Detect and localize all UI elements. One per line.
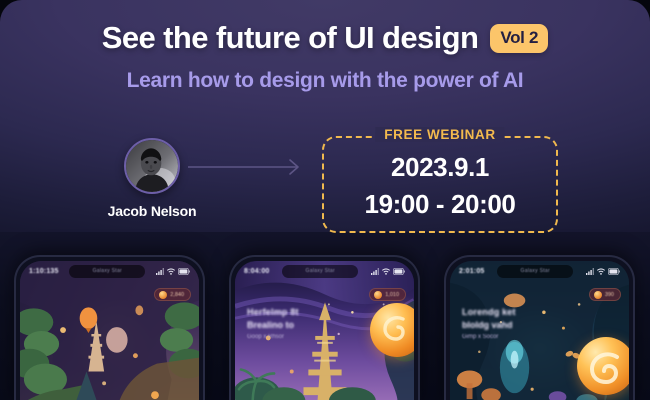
phone-screen-2: 8:04:00 Galaxy Star	[235, 261, 414, 400]
phone-mockup-3: 2:01:05 Galaxy Star	[444, 255, 635, 400]
island-label: Galaxy Star	[93, 268, 122, 274]
speaker-name: Jacob Nelson	[97, 203, 207, 219]
phone-mockup-1: 1:10:135 Galaxy Star	[14, 255, 205, 400]
gold-orb-button-3[interactable]	[577, 337, 629, 395]
coin-badge-3[interactable]: 390	[589, 288, 621, 301]
coin-amount: 2,840	[170, 292, 184, 298]
status-time: 8:04:00	[244, 268, 270, 275]
battery-icon	[178, 268, 190, 275]
title-row: See the future of UI design Vol 2	[0, 20, 650, 56]
signal-icon	[586, 268, 594, 275]
card-text-3: Lorendg ket bloldg vahd Gimp x Socor	[462, 307, 516, 340]
banner-header: See the future of UI design Vol 2 Learn …	[0, 0, 650, 93]
swirl-icon	[370, 303, 414, 357]
coin-badge-1[interactable]: 2,840	[154, 288, 191, 301]
card-headline-line2: Brealino to	[247, 320, 299, 330]
card-headline-line1: Herfelmp 8t	[247, 307, 299, 317]
coin-icon	[374, 291, 382, 299]
avatar	[124, 138, 180, 194]
status-icons	[371, 268, 405, 275]
game-scene-forest	[20, 261, 199, 400]
page-title: See the future of UI design	[102, 20, 479, 56]
webinar-box: FREE WEBINAR 2023.9.1 19:00 - 20:00	[322, 136, 558, 233]
banner-subtitle: Learn how to design with the power of AI	[0, 69, 650, 93]
webinar-label: FREE WEBINAR	[375, 127, 504, 142]
card-text-2: Herfelmp 8t Brealino to Goop x Rhsor	[247, 307, 299, 340]
signal-icon	[156, 268, 164, 275]
card-headline-line2: bloldg vahd	[462, 320, 516, 330]
card-headline-line1: Lorendg ket	[462, 307, 516, 317]
coin-amount: 390	[605, 292, 614, 298]
status-icons	[156, 268, 190, 275]
volume-badge: Vol 2	[490, 24, 548, 53]
coin-icon	[594, 291, 602, 299]
island-label: Galaxy Star	[306, 268, 335, 274]
status-time: 1:10:135	[29, 268, 59, 275]
coin-badge-2[interactable]: 1,010	[369, 288, 406, 301]
coin-amount: 1,010	[385, 292, 399, 298]
card-subline: Gimp x Socor	[462, 334, 516, 340]
status-icons	[586, 268, 620, 275]
status-bar-1: 1:10:135 Galaxy Star	[20, 261, 199, 281]
wifi-icon	[382, 268, 390, 275]
arrow-right	[188, 158, 306, 181]
status-time: 2:01:05	[459, 268, 485, 275]
island-label: Galaxy Star	[521, 268, 550, 274]
webinar-time: 19:00 - 20:00	[324, 189, 556, 220]
wifi-icon	[167, 268, 175, 275]
dynamic-island: Galaxy Star	[282, 265, 358, 278]
battery-icon	[393, 268, 405, 275]
gold-orb-button-2[interactable]	[370, 303, 414, 357]
dynamic-island: Galaxy Star	[497, 265, 573, 278]
coin-icon	[159, 291, 167, 299]
swirl-icon	[577, 337, 629, 395]
card-subline: Goop x Rhsor	[247, 334, 299, 340]
arrow-right-icon	[188, 158, 306, 176]
phone-screen-1: 1:10:135 Galaxy Star	[20, 261, 199, 400]
wifi-icon	[597, 268, 605, 275]
phone-screen-3: 2:01:05 Galaxy Star	[450, 261, 629, 400]
battery-icon	[608, 268, 620, 275]
status-bar-2: 8:04:00 Galaxy Star	[235, 261, 414, 281]
signal-icon	[371, 268, 379, 275]
promo-banner: See the future of UI design Vol 2 Learn …	[0, 0, 650, 400]
dynamic-island: Galaxy Star	[69, 265, 145, 278]
status-bar-3: 2:01:05 Galaxy Star	[450, 261, 629, 281]
speaker-portrait-icon	[126, 140, 178, 192]
webinar-date: 2023.9.1	[324, 152, 556, 183]
phone-mockup-2: 8:04:00 Galaxy Star	[229, 255, 420, 400]
